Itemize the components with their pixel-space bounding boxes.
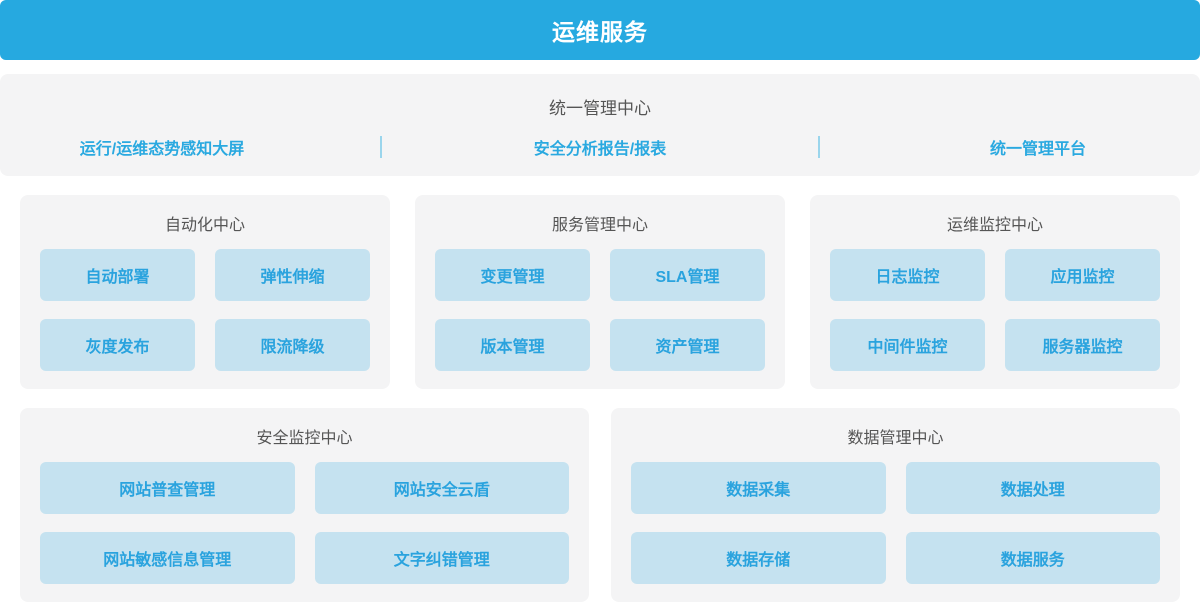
- unified-management-center-panel: 统一管理中心 运行/运维态势感知大屏 安全分析报告/报表 统一管理平台: [0, 74, 1200, 176]
- tag-log-monitoring[interactable]: 日志监控: [830, 249, 985, 301]
- card-title: 安全监控中心: [256, 424, 352, 448]
- tag-asset-management[interactable]: 资产管理: [610, 319, 765, 371]
- tag-rate-limit-degrade[interactable]: 限流降级: [215, 319, 370, 371]
- tag-auto-deploy[interactable]: 自动部署: [40, 249, 195, 301]
- tag-gray-release[interactable]: 灰度发布: [40, 319, 195, 371]
- header-bar: 运维服务: [0, 0, 1200, 60]
- umc-link-situational-awareness-screen[interactable]: 运行/运维态势感知大屏: [22, 135, 302, 159]
- tag-elastic-scaling[interactable]: 弹性伸缩: [215, 249, 370, 301]
- tag-version-management[interactable]: 版本管理: [435, 319, 590, 371]
- tag-data-service[interactable]: 数据服务: [906, 532, 1161, 584]
- top-card-row: 自动化中心 自动部署 弹性伸缩 灰度发布 限流降级 服务管理中心 变更管理 SL…: [20, 195, 1180, 389]
- card-automation-center: 自动化中心 自动部署 弹性伸缩 灰度发布 限流降级: [20, 195, 390, 389]
- tag-grid: 数据采集 数据处理 数据存储 数据服务: [611, 462, 1180, 584]
- card-title: 数据管理中心: [847, 424, 943, 448]
- tag-data-processing[interactable]: 数据处理: [906, 462, 1161, 514]
- tag-grid: 自动部署 弹性伸缩 灰度发布 限流降级: [20, 249, 390, 371]
- page-title: 运维服务: [552, 13, 648, 47]
- bottom-card-row: 安全监控中心 网站普查管理 网站安全云盾 网站敏感信息管理 文字纠错管理 数据管…: [20, 408, 1180, 602]
- tag-text-correction-management[interactable]: 文字纠错管理: [315, 532, 570, 584]
- unified-management-center-title: 统一管理中心: [549, 94, 651, 119]
- card-title: 服务管理中心: [552, 211, 648, 235]
- tag-middleware-monitoring[interactable]: 中间件监控: [830, 319, 985, 371]
- card-ops-monitoring-center: 运维监控中心 日志监控 应用监控 中间件监控 服务器监控: [810, 195, 1180, 389]
- tag-sla-management[interactable]: SLA管理: [610, 249, 765, 301]
- tag-application-monitoring[interactable]: 应用监控: [1005, 249, 1160, 301]
- umc-link-unified-management-platform[interactable]: 统一管理平台: [898, 135, 1178, 159]
- card-title: 自动化中心: [165, 211, 245, 235]
- umc-link-security-analysis-report[interactable]: 安全分析报告/报表: [460, 135, 740, 159]
- card-data-management-center: 数据管理中心 数据采集 数据处理 数据存储 数据服务: [611, 408, 1180, 602]
- umc-divider-2: [818, 136, 820, 158]
- tag-grid: 网站普查管理 网站安全云盾 网站敏感信息管理 文字纠错管理: [20, 462, 589, 584]
- tag-data-storage[interactable]: 数据存储: [631, 532, 886, 584]
- tag-server-monitoring[interactable]: 服务器监控: [1005, 319, 1160, 371]
- card-security-monitoring-center: 安全监控中心 网站普查管理 网站安全云盾 网站敏感信息管理 文字纠错管理: [20, 408, 589, 602]
- card-title: 运维监控中心: [947, 211, 1043, 235]
- tag-grid: 变更管理 SLA管理 版本管理 资产管理: [415, 249, 785, 371]
- tag-data-collection[interactable]: 数据采集: [631, 462, 886, 514]
- card-service-management-center: 服务管理中心 变更管理 SLA管理 版本管理 资产管理: [415, 195, 785, 389]
- tag-website-sensitive-info-management[interactable]: 网站敏感信息管理: [40, 532, 295, 584]
- tag-website-census-management[interactable]: 网站普查管理: [40, 462, 295, 514]
- tag-change-management[interactable]: 变更管理: [435, 249, 590, 301]
- tag-grid: 日志监控 应用监控 中间件监控 服务器监控: [810, 249, 1180, 371]
- ops-service-architecture-diagram: 运维服务 统一管理中心 运行/运维态势感知大屏 安全分析报告/报表 统一管理平台…: [0, 0, 1200, 602]
- umc-divider-1: [380, 136, 382, 158]
- unified-management-center-links: 运行/运维态势感知大屏 安全分析报告/报表 统一管理平台: [0, 135, 1200, 159]
- tag-website-security-cloud-shield[interactable]: 网站安全云盾: [315, 462, 570, 514]
